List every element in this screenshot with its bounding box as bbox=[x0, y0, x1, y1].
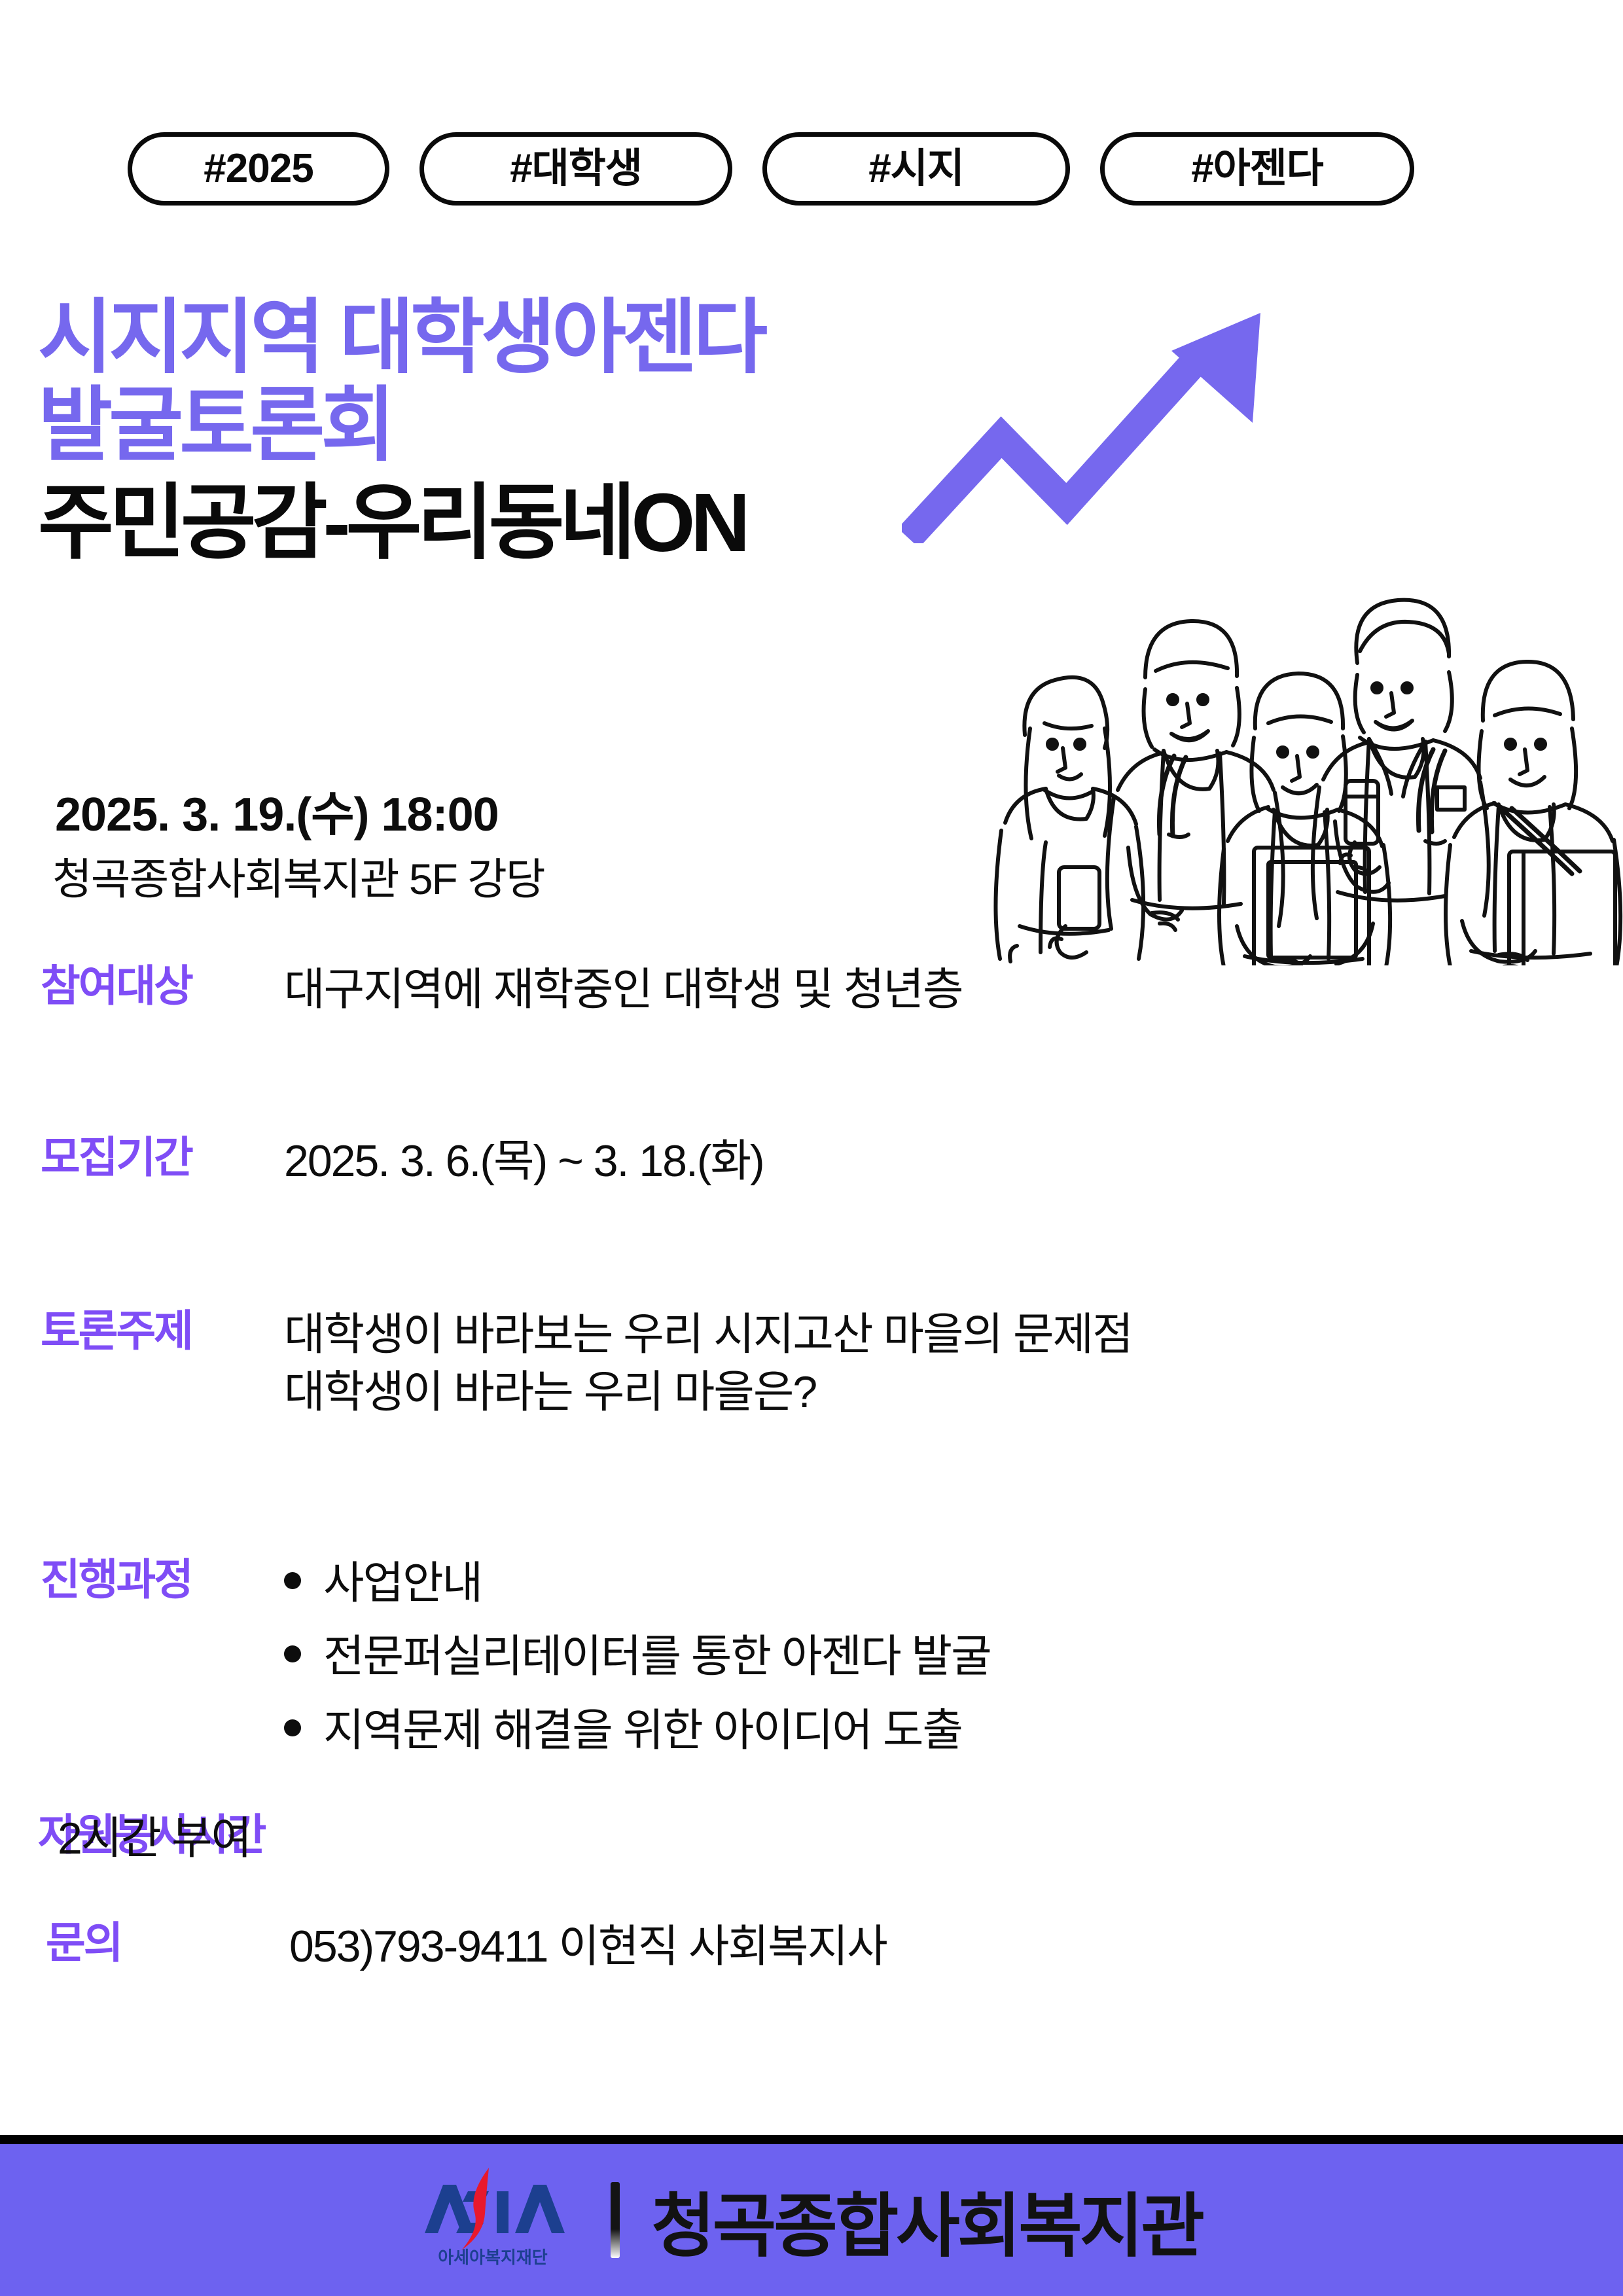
process-item-label: 지역문제 해결을 위한 아이디어 도출 bbox=[323, 1702, 962, 1759]
info-row-process: 진행과정 사업안내 전문퍼실리테이터를 통한 아젠다 발굴 지역문제 해결을 위… bbox=[41, 1554, 991, 1759]
info-label-volunteer-hours: 자원봉사시간 bbox=[38, 1810, 58, 1861]
asia-foundation-logo-icon: 아세아복지재단 bbox=[421, 2165, 579, 2275]
footer-divider-rule bbox=[0, 2135, 1623, 2144]
info-label-topic: 토론주제 bbox=[41, 1306, 284, 1357]
info-row-target: 참여대상 대구지역에 재학중인 대학생 및 청년층 bbox=[41, 961, 963, 1018]
info-row-contact: 문의 053)793-9411 이현직 사회복지사 bbox=[46, 1918, 887, 1975]
hashtag-pill-2025[interactable]: #2025 bbox=[128, 132, 389, 206]
process-item-label: 전문퍼실리테이터를 통한 아젠다 발굴 bbox=[323, 1628, 991, 1685]
event-venue: 청곡종합사회복지관 5F 강당 bbox=[52, 844, 544, 907]
info-row-volunteer-hours: 자원봉사시간 2시간 부여 bbox=[38, 1810, 251, 1867]
hashtag-label: #시지 bbox=[868, 149, 964, 189]
info-label-process: 진행과정 bbox=[41, 1554, 284, 1605]
info-label-target: 참여대상 bbox=[41, 961, 284, 1012]
list-item: 전문퍼실리테이터를 통한 아젠다 발굴 bbox=[284, 1628, 991, 1685]
process-list: 사업안내 전문퍼실리테이터를 통한 아젠다 발굴 지역문제 해결을 위한 아이디… bbox=[284, 1554, 991, 1759]
footer-band: 아세아복지재단 청곡종합사회복지관 bbox=[0, 2144, 1623, 2296]
students-illustration bbox=[967, 560, 1623, 965]
growth-arrow-icon bbox=[902, 308, 1268, 543]
hashtag-pill-university-student[interactable]: #대학생 bbox=[419, 132, 732, 206]
info-value-period: 2025. 3. 6.(목) ~ 3. 18.(화) bbox=[284, 1132, 764, 1190]
hashtag-pill-siji[interactable]: #시지 bbox=[762, 132, 1070, 206]
bullet-dot-icon bbox=[284, 1645, 301, 1662]
footer-vertical-divider bbox=[611, 2182, 620, 2258]
process-item-label: 사업안내 bbox=[323, 1554, 482, 1612]
info-label-contact: 문의 bbox=[46, 1918, 289, 1969]
info-value-topic-line-2: 대학생이 바라는 우리 마을은? bbox=[284, 1363, 1132, 1421]
info-row-topic: 토론주제 대학생이 바라보는 우리 시지고산 마을의 문제점 대학생이 바라는 … bbox=[41, 1306, 1132, 1422]
hashtag-pill-agenda[interactable]: #아젠다 bbox=[1100, 132, 1414, 206]
info-row-period: 모집기간 2025. 3. 6.(목) ~ 3. 18.(화) bbox=[41, 1132, 764, 1190]
info-value-target: 대구지역에 재학중인 대학생 및 청년층 bbox=[284, 961, 963, 1018]
hashtag-label: #대학생 bbox=[510, 149, 642, 189]
hashtag-label: #2025 bbox=[204, 149, 313, 189]
info-value-contact[interactable]: 053)793-9411 이현직 사회복지사 bbox=[289, 1918, 887, 1975]
list-item: 사업안내 bbox=[284, 1554, 991, 1612]
bullet-dot-icon bbox=[284, 1572, 301, 1589]
list-item: 지역문제 해결을 위한 아이디어 도출 bbox=[284, 1702, 991, 1759]
hashtag-pill-row: #2025 #대학생 #시지 #아젠다 bbox=[128, 132, 1414, 206]
footer-organization-name: 청곡종합사회복지관 bbox=[651, 2170, 1202, 2270]
hashtag-label: #아젠다 bbox=[1191, 149, 1323, 189]
info-value-topic-line-1: 대학생이 바라보는 우리 시지고산 마을의 문제점 bbox=[284, 1306, 1132, 1363]
info-value-volunteer-hours: 2시간 부여 bbox=[58, 1810, 251, 1867]
info-label-period: 모집기간 bbox=[41, 1132, 284, 1183]
bullet-dot-icon bbox=[284, 1719, 301, 1736]
event-datetime: 2025. 3. 19.(수) 18:00 bbox=[55, 776, 499, 844]
logo-subtext: 아세아복지재단 bbox=[438, 2248, 548, 2267]
